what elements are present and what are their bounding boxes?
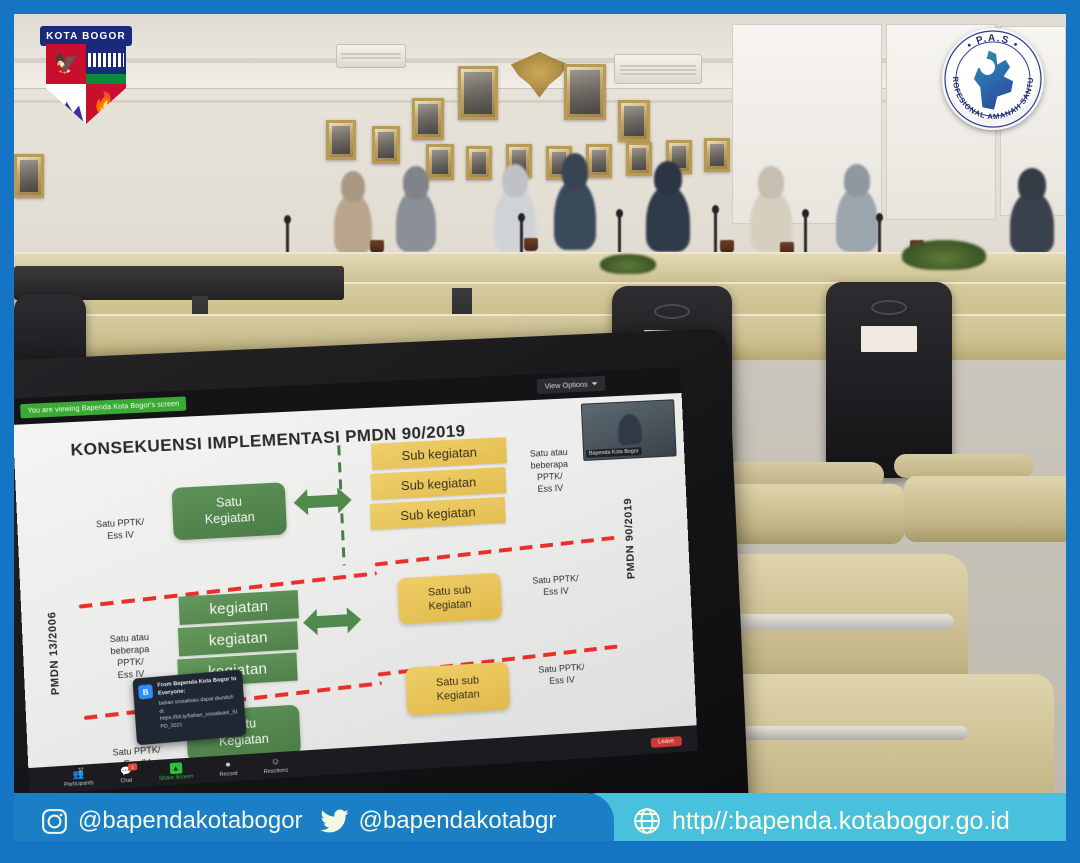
chat-avatar-icon: B [138,684,153,699]
zoom-chat-popup[interactable]: B From Bapenda Kota Bogor to Everyone: b… [132,669,246,745]
box-label: Sub kegiatan [401,444,477,463]
crest-title: KOTA BOGOR [40,26,132,46]
thumbnail-person [617,414,642,446]
hand-gesture-hole [980,59,995,75]
caption-mid-left: Satu atau beberapa PPTK/ Ess IV [90,630,170,684]
twitter-handle: @bapendakotabgr [359,807,557,835]
thumbnail-name-label: Bapenda Kota Bogor [586,447,642,458]
box-satu-kegiatan-top: Satu Kegiatan [172,482,288,540]
share-screen-icon: ▲ [169,762,182,774]
pas-motto-logo: • P.A.S • PROFESIONAL AMANAH SANTUN [942,28,1044,130]
laptop-screen: You are viewing Bapenda Kota Bogor's scr… [14,367,698,794]
leave-label: Leave [658,739,674,746]
crest-quadrant-eagle: 🦅 [46,44,86,84]
flame-icon: 🔥 [92,93,119,115]
toolbar-label: Share Screen [159,774,193,782]
double-arrow-icon [293,485,352,518]
wall-certificate [326,120,356,160]
website-url[interactable]: http//:bapenda.kotabogor.go.id [672,807,1010,836]
footer-base-strip [14,841,1066,849]
drinking-cup [524,238,538,251]
box-label: Satu Kegiatan [204,494,255,528]
attendee [554,180,596,250]
view-options-label: View Options [544,380,587,391]
box-sub-kegiatan-2: Sub kegiatan [371,467,507,500]
arrow-icon-top [293,485,352,518]
crest-quadrant-mountain [46,84,86,124]
garuda-icon: 🦅 [54,54,79,74]
wall-certificate [14,154,44,198]
wall-certificate [466,146,492,180]
instagram-handle-group[interactable]: @bapendakotabogor [40,807,303,836]
double-arrow-icon [302,605,361,638]
reactions-icon: ☺ [269,756,282,768]
instagram-icon [40,807,69,836]
caption-bottom-right: Satu PPTK/ Ess IV [526,660,598,688]
crest-shield: 🦅 🔥 [46,44,126,124]
wall-certificate [586,144,612,178]
chevron-down-icon [592,382,598,385]
table-plant [600,254,656,274]
participant-video-thumbnail[interactable]: Bapenda Kota Bogor [581,399,677,461]
caption-top-left: Satu PPTK/ Ess IV [81,515,160,544]
photo-area: You are viewing Bapenda Kota Bogor's scr… [14,14,1066,849]
wall-certificate [426,144,454,180]
wall-certificate [618,100,650,142]
chair-armrest [894,454,1034,478]
wall-certificate [412,98,444,140]
wall-certificate [704,138,730,172]
box-label: Sub kegiatan [401,474,477,493]
attendee [1010,192,1054,254]
view-options-button[interactable]: View Options [537,376,606,394]
air-conditioner [614,54,702,84]
wall-portrait [564,64,606,120]
toolbar-reactions-button[interactable]: ☺ Reactions [263,755,288,775]
office-chair [826,282,952,478]
crest-quadrant-flame: 🔥 [86,84,126,124]
screen-share-banner: You are viewing Bapenda Kota Bogor's scr… [20,396,186,418]
arrow-icon-mid [302,605,361,638]
attendee [334,194,372,254]
table-plant [902,240,986,270]
attendee [396,190,436,252]
box-satu-sub-kegiatan-bottom: Satu sub Kegiatan [405,662,510,716]
toolbar-participants-button[interactable]: 👥 37 Participants [63,768,93,788]
chair-seat [904,476,1066,542]
toolbar-share-screen-button[interactable]: ▲ Share Screen [158,762,193,782]
divider-line [375,535,619,566]
wall-certificate [626,142,652,176]
instagram-handle: @bapendakotabogor [78,807,303,835]
box-satu-sub-kegiatan-mid: Satu sub Kegiatan [397,573,502,625]
wall-portrait [458,66,498,120]
crest-quadrant-building [86,44,126,84]
caption-top-right: Satu atau beberapa PPTK/ Ess IV [516,445,583,496]
air-conditioner [336,44,406,68]
toolbar-label: Chat [120,778,132,785]
box-sub-kegiatan-1: Sub kegiatan [371,437,507,470]
axis-label-right: PMDN 90/2019 [622,498,637,580]
toolbar-record-button[interactable]: ⏺ Record [219,759,238,778]
attendee [836,188,878,252]
toolbar-label: Record [219,771,237,778]
box-label: Satu sub Kegiatan [428,583,472,614]
caption-mid-right: Satu PPTK/ Ess IV [520,572,592,600]
dell-laptop: You are viewing Bapenda Kota Bogor's scr… [14,328,750,849]
participants-count: 37 [78,768,84,774]
poster-frame: You are viewing Bapenda Kota Bogor's scr… [0,0,1080,863]
social-footer-bar: http//:bapenda.kotabogor.go.id @bapendak… [14,787,1066,849]
toolbar-chat-button[interactable]: 💬 1 Chat [120,766,133,785]
record-icon: ⏺ [222,759,235,771]
kota-bogor-crest: KOTA BOGOR 🦅 🔥 [38,24,134,128]
share-banner-text: You are viewing Bapenda Kota Bogor's scr… [27,400,179,414]
chair-seat [714,484,904,544]
box-label: Sub kegiatan [400,504,476,523]
globe-icon [632,806,662,836]
box-kegiatan-1: kegiatan [178,590,298,625]
twitter-icon [319,806,350,837]
leave-meeting-button[interactable]: Leave [650,736,682,748]
attendee [646,186,690,252]
box-sub-kegiatan-3: Sub kegiatan [370,497,506,530]
chat-badge: 1 [128,763,138,771]
axis-label-left: PMDN 13/2006 [46,611,62,695]
box-label: Satu sub Kegiatan [436,673,480,704]
chat-message: bahan sosialisasi dapat diunduh di: http… [159,694,240,731]
wall-certificate [372,126,400,164]
twitter-handle-group[interactable]: @bapendakotabgr [319,806,557,837]
box-label: kegiatan [208,628,268,649]
box-kegiatan-2: kegiatan [178,621,298,656]
toolbar-label: Reactions [264,768,289,776]
box-label: kegiatan [209,597,269,617]
